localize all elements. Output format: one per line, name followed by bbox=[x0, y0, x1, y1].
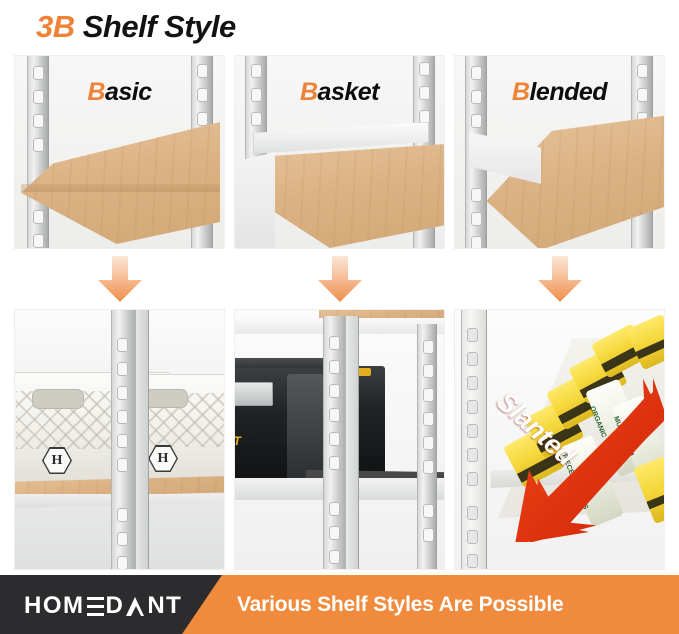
shelf-style-grid: Basic H bbox=[14, 55, 665, 570]
arrow-wrap-basic bbox=[14, 251, 225, 307]
brand-logo-part3: NT bbox=[147, 592, 182, 620]
column-basic: Basic H bbox=[14, 55, 225, 570]
scene-basket-toolboxes: LT bbox=[235, 310, 444, 569]
brand-logo: HOM D NT bbox=[24, 592, 182, 620]
panel-basket-top[interactable]: Basket bbox=[234, 55, 445, 249]
brand-logo-part2: D bbox=[106, 592, 125, 620]
down-arrow-icon bbox=[96, 256, 144, 302]
down-arrow-icon bbox=[536, 256, 584, 302]
panel-label-basic: Basic bbox=[15, 78, 224, 107]
scene-basic-crates: H H bbox=[15, 310, 224, 569]
crate-logo-letter: H bbox=[158, 451, 169, 467]
panel-label-accent: B bbox=[300, 78, 318, 106]
down-arrow-icon bbox=[316, 256, 364, 302]
page-title-accent: 3B bbox=[36, 9, 75, 44]
upright-post-front-side bbox=[345, 316, 359, 570]
arrow-wrap-basket bbox=[234, 251, 445, 307]
page-title-rest: Shelf Style bbox=[75, 9, 236, 44]
toolbox-metal-tray bbox=[234, 382, 273, 406]
wood-board-edge bbox=[21, 184, 220, 192]
upright-post-front-side bbox=[135, 310, 149, 570]
brand-logo-part1: HOM bbox=[24, 592, 85, 620]
panel-blended-top[interactable]: Blended bbox=[454, 55, 665, 249]
panel-label-rest: asic bbox=[105, 78, 152, 106]
wood-shelf-board bbox=[21, 122, 220, 244]
panel-label-blended: Blended bbox=[455, 78, 664, 107]
upright-post-right-rear bbox=[417, 324, 437, 570]
upright-post-front bbox=[323, 316, 347, 570]
panel-label-accent: B bbox=[87, 78, 105, 106]
page-title-bar: 3B Shelf Style bbox=[0, 0, 679, 50]
panel-basket-bottom[interactable]: LT bbox=[234, 309, 445, 570]
panel-label-basket: Basket bbox=[235, 78, 444, 107]
scene-blended-cans: ORGANIC MUSHROOM PIECES & STEMS bbox=[455, 310, 664, 569]
upright-post-front bbox=[111, 310, 137, 570]
crate-logo-letter: H bbox=[52, 453, 63, 469]
panel-label-accent: B bbox=[512, 78, 530, 106]
arrow-wrap-blended bbox=[454, 251, 665, 307]
panel-label-rest: lended bbox=[529, 78, 607, 106]
page-title: 3B Shelf Style bbox=[36, 9, 236, 45]
panel-basic-top[interactable]: Basic bbox=[14, 55, 225, 249]
footer-tagline: Various Shelf Styles Are Possible bbox=[237, 575, 563, 634]
brand-logo-e-glyph bbox=[87, 597, 104, 616]
column-blended: Blended bbox=[454, 55, 665, 570]
upright-post-left bbox=[461, 310, 487, 570]
footer-bar: HOM D NT Various Shelf Styles Are Possib… bbox=[0, 575, 679, 634]
toolbox-brand-label: LT bbox=[234, 434, 241, 448]
column-basket: Basket LT bbox=[234, 55, 445, 570]
panel-blended-bottom[interactable]: ORGANIC MUSHROOM PIECES & STEMS bbox=[454, 309, 665, 570]
panel-basic-bottom[interactable]: H H bbox=[14, 309, 225, 570]
panel-label-rest: asket bbox=[318, 78, 379, 106]
brand-logo-a-glyph bbox=[126, 597, 145, 616]
